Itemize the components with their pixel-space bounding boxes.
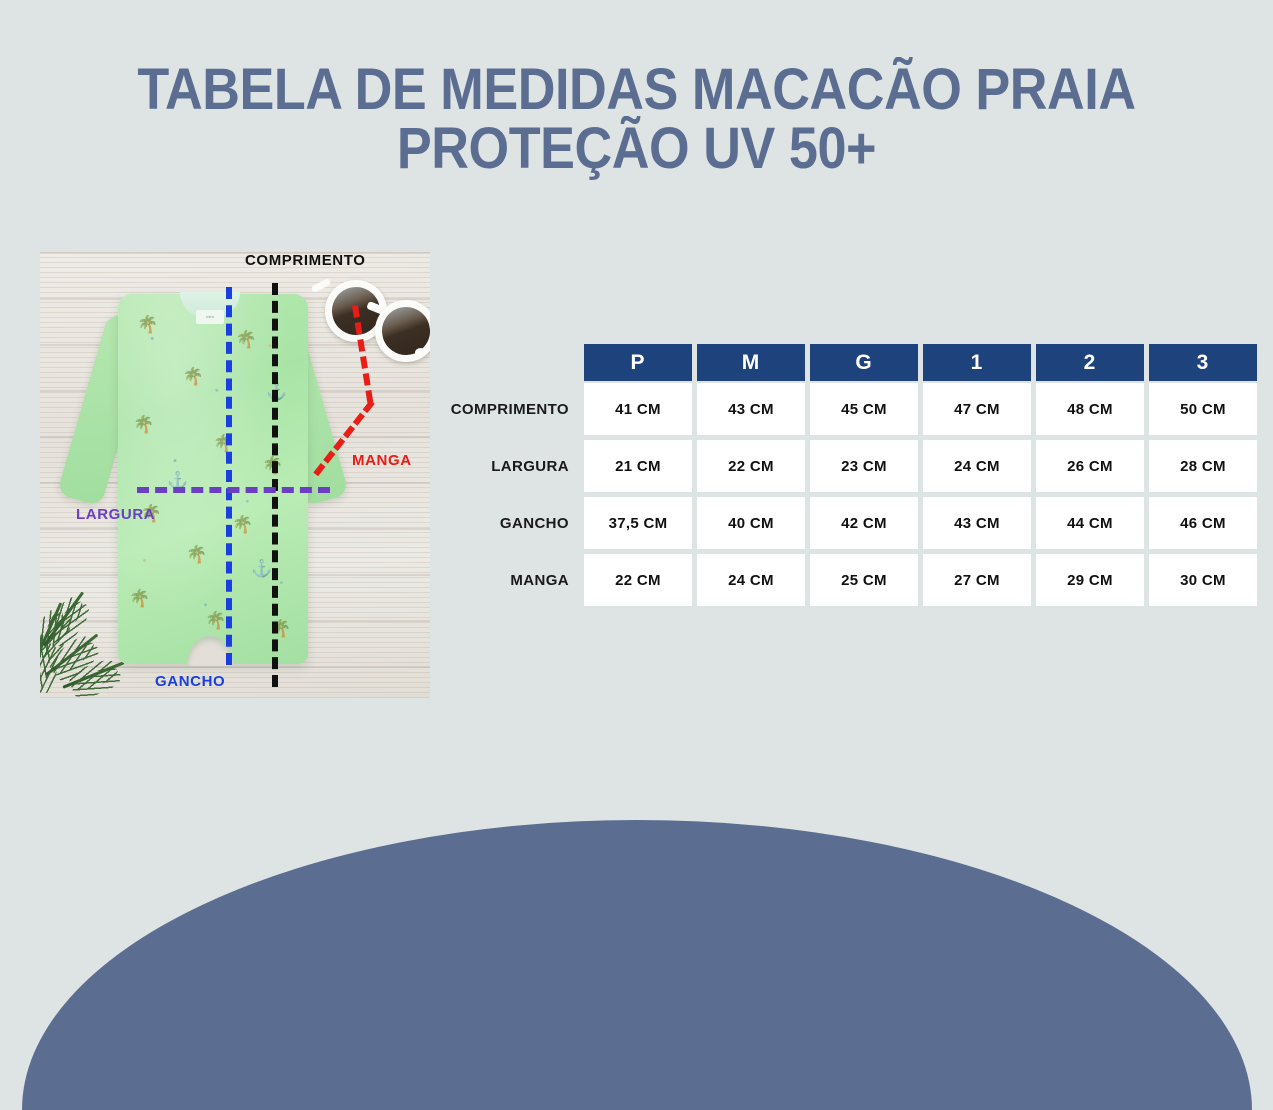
size-chart-header-row: PMG123 (429, 341, 1257, 378)
measure-cell: 29 CM (1036, 554, 1144, 606)
measure-cell: 30 CM (1149, 554, 1257, 606)
measure-cell: 43 CM (923, 497, 1031, 549)
photo-label-comprimento: COMPRIMENTO (245, 252, 366, 269)
romper-brand-tag: mim (196, 310, 224, 324)
table-row: GANCHO37,5 CM40 CM42 CM43 CM44 CM46 CM (429, 497, 1257, 549)
size-column-header-3: 3 (1149, 344, 1257, 381)
measure-cell: 41 CM (584, 383, 692, 435)
size-column-header-2: 2 (1036, 344, 1144, 381)
measure-cell: 21 CM (584, 440, 692, 492)
measure-row-label-comprimento: COMPRIMENTO (429, 383, 579, 435)
bottom-decorative-arc (22, 820, 1252, 1110)
measure-cell: 42 CM (810, 497, 918, 549)
measure-cell: 43 CM (697, 383, 805, 435)
size-chart-table: PMG123 COMPRIMENTO41 CM43 CM45 CM47 CM48… (424, 336, 1262, 611)
measure-cell: 37,5 CM (584, 497, 692, 549)
size-chart-body: COMPRIMENTO41 CM43 CM45 CM47 CM48 CM50 C… (429, 383, 1257, 606)
size-column-header-p: P (584, 344, 692, 381)
measure-row-label-manga: MANGA (429, 554, 579, 606)
measure-cell: 47 CM (923, 383, 1031, 435)
measure-cell: 44 CM (1036, 497, 1144, 549)
size-column-header-m: M (697, 344, 805, 381)
page-title-line-2: PROTEÇÃO UV 50+ (64, 119, 1210, 178)
guide-line-comprimento (272, 283, 278, 687)
table-row: LARGURA21 CM22 CM23 CM24 CM26 CM28 CM (429, 440, 1257, 492)
guide-line-largura (137, 487, 330, 493)
romper-garment: 🌴 🌴 🌴 ⚓ 🌴 🌴 🌴 ⚓ 🌴 🌴 🌴 ⚓ 🌴 🌴 🌴 (118, 294, 308, 664)
measure-cell: 46 CM (1149, 497, 1257, 549)
measure-cell: 50 CM (1149, 383, 1257, 435)
measure-cell: 22 CM (697, 440, 805, 492)
measure-cell: 24 CM (923, 440, 1031, 492)
measure-cell: 45 CM (810, 383, 918, 435)
size-chart-corner-cell (429, 341, 579, 378)
size-column-header-1: 1 (923, 344, 1031, 381)
table-row: MANGA22 CM24 CM25 CM27 CM29 CM30 CM (429, 554, 1257, 606)
size-chart-header: PMG123 (429, 341, 1257, 378)
measure-cell: 28 CM (1149, 440, 1257, 492)
photo-label-largura: LARGURA (76, 506, 155, 523)
measure-row-label-largura: LARGURA (429, 440, 579, 492)
product-photo: 🌴 🌴 🌴 ⚓ 🌴 🌴 🌴 ⚓ 🌴 🌴 🌴 ⚓ 🌴 🌴 🌴 mim (40, 252, 430, 698)
guide-line-gancho (226, 287, 232, 665)
page-title-line-1: TABELA DE MEDIDAS MACACÃO PRAIA (64, 60, 1210, 119)
measure-cell: 26 CM (1036, 440, 1144, 492)
photo-label-manga: MANGA (352, 452, 412, 469)
photo-label-gancho: GANCHO (155, 673, 225, 690)
measure-row-label-gancho: GANCHO (429, 497, 579, 549)
page-title: TABELA DE MEDIDAS MACACÃO PRAIA PROTEÇÃO… (0, 60, 1273, 178)
size-column-header-g: G (810, 344, 918, 381)
measure-cell: 48 CM (1036, 383, 1144, 435)
measure-cell: 27 CM (923, 554, 1031, 606)
table-row: COMPRIMENTO41 CM43 CM45 CM47 CM48 CM50 C… (429, 383, 1257, 435)
measure-cell: 24 CM (697, 554, 805, 606)
measure-cell: 23 CM (810, 440, 918, 492)
sunglasses-prop (323, 274, 430, 366)
measure-cell: 40 CM (697, 497, 805, 549)
measure-cell: 22 CM (584, 554, 692, 606)
measure-cell: 25 CM (810, 554, 918, 606)
